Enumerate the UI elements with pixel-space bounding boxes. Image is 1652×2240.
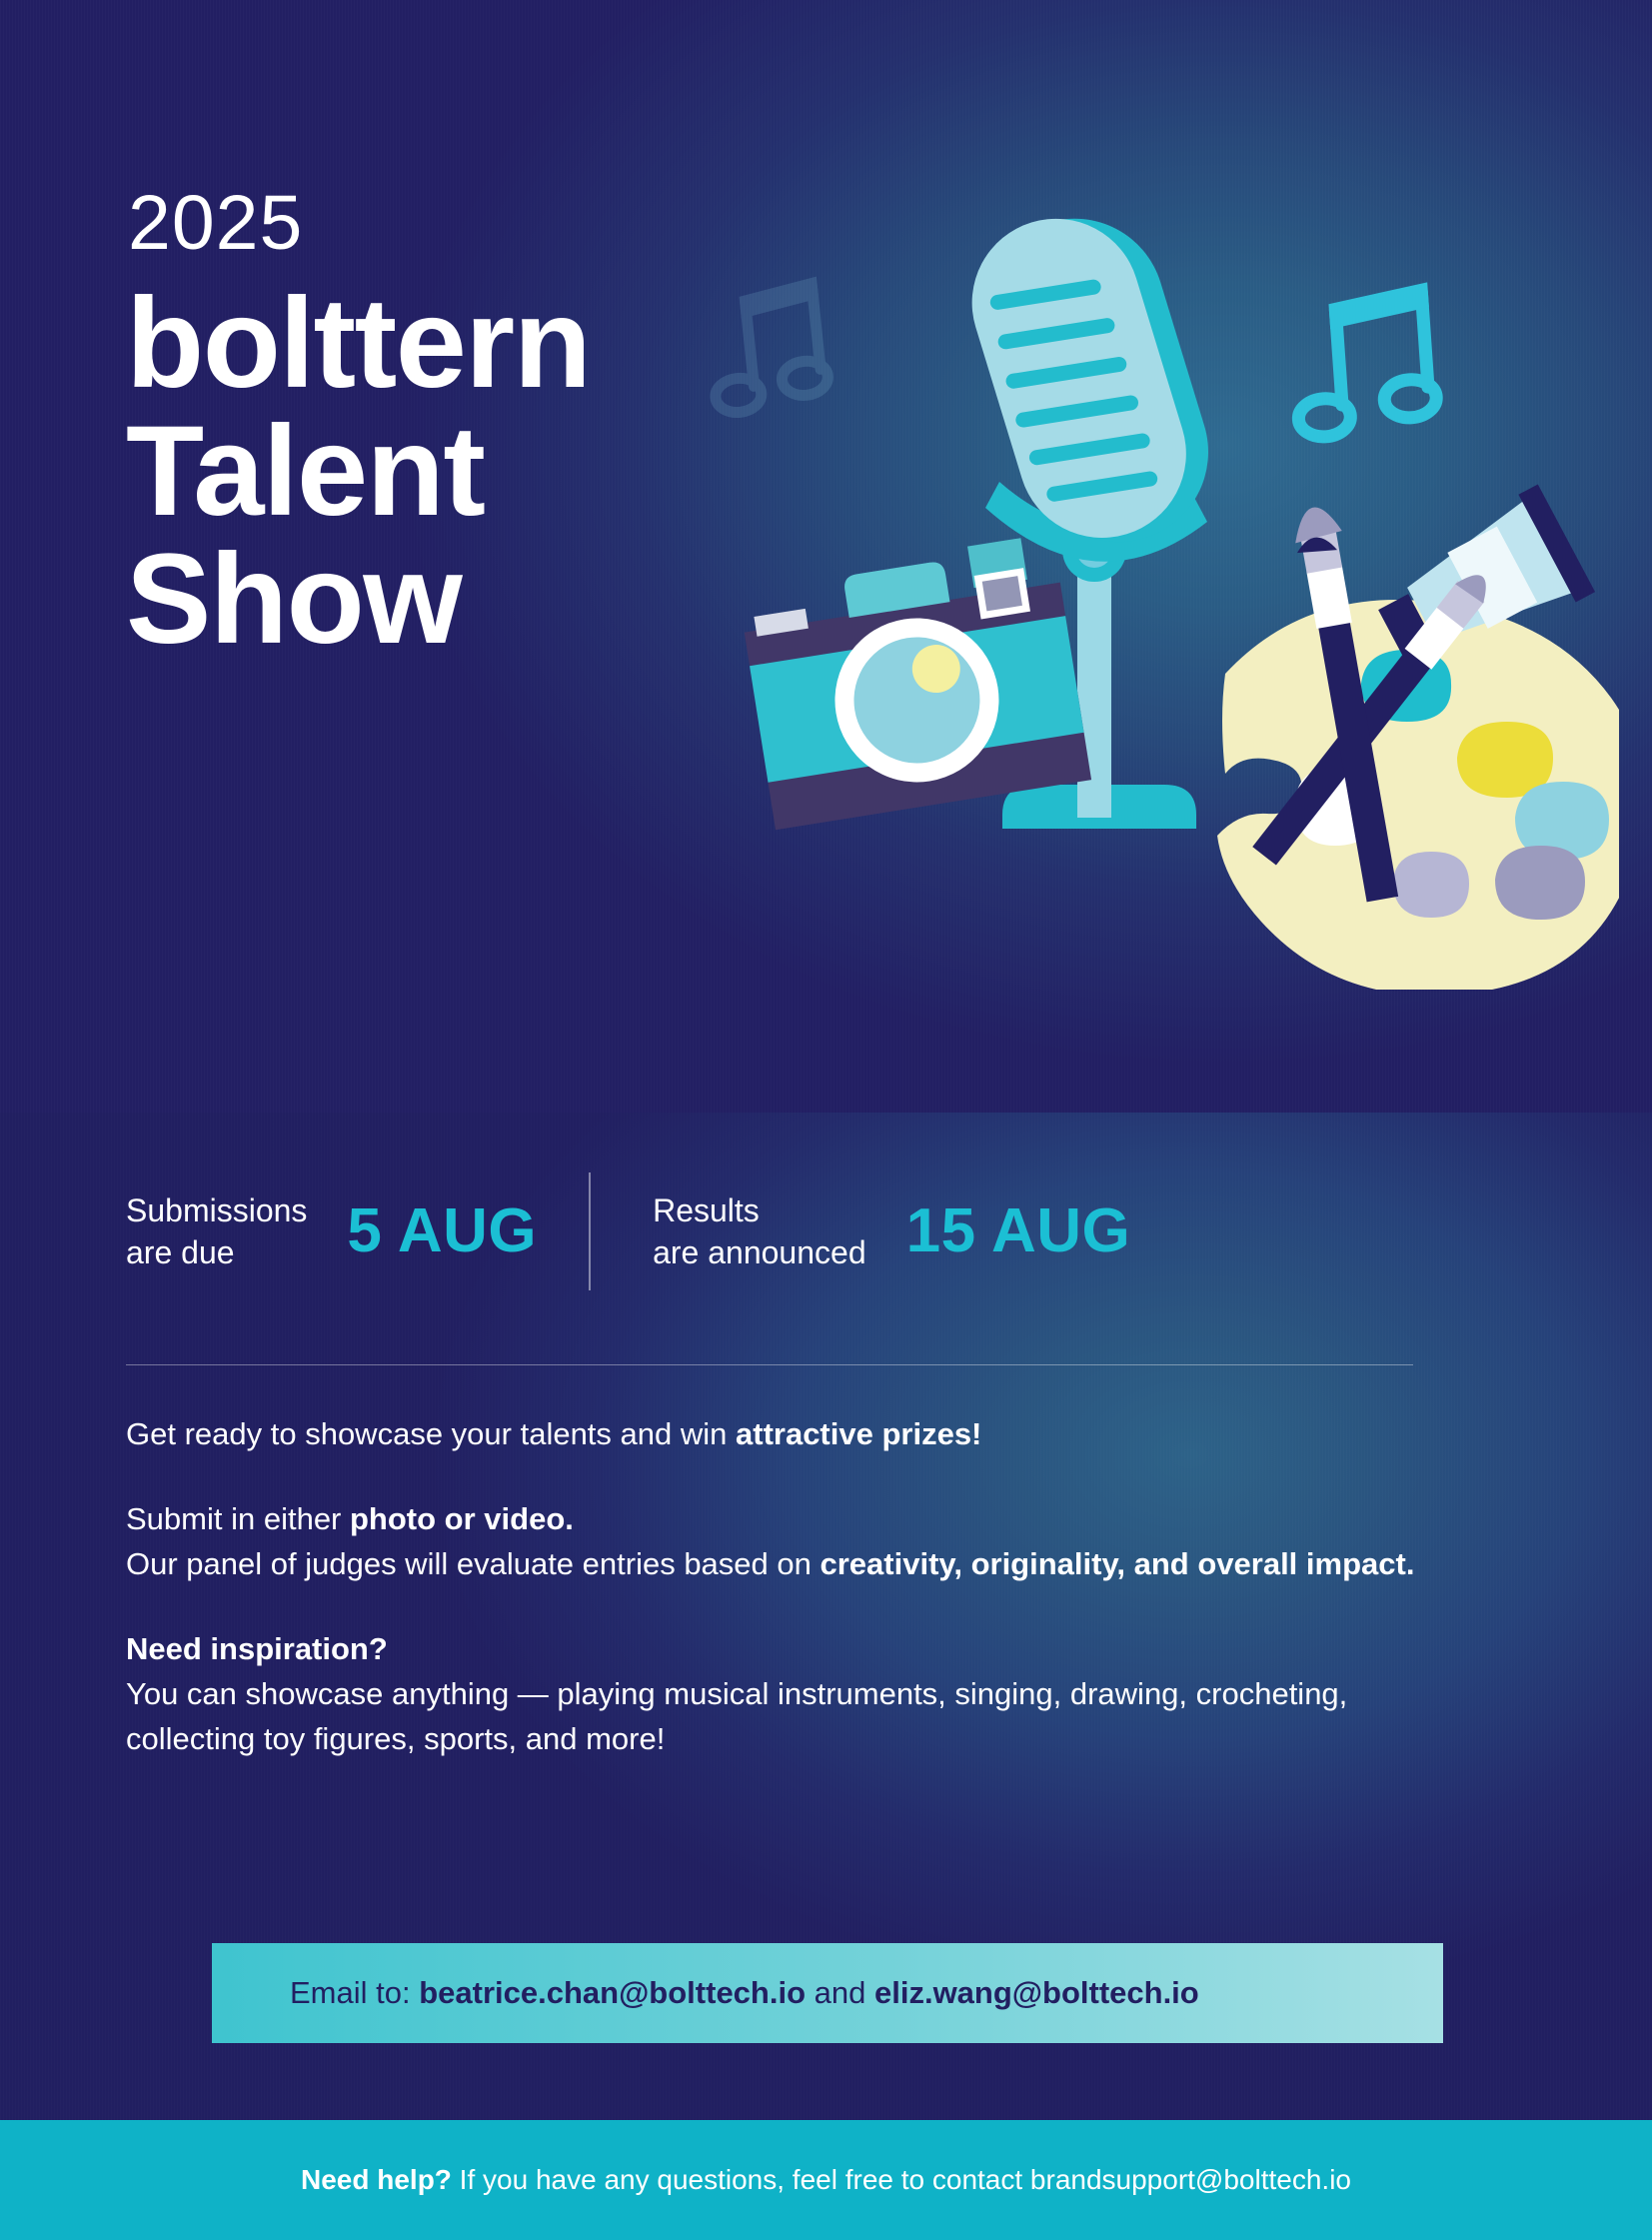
horizontal-divider xyxy=(126,1364,1413,1365)
copy-spacer-1 xyxy=(126,1457,1445,1497)
copy-submit-plain: Submit in either xyxy=(126,1501,350,1536)
email-cta-text: Email to: beatrice.chan@bolttech.io and … xyxy=(290,1975,1199,2011)
email-prefix-label: Email to: xyxy=(290,1975,419,2010)
copy-submit-bold: photo or video. xyxy=(350,1501,574,1536)
date-divider xyxy=(589,1172,591,1290)
camera-icon xyxy=(737,533,1091,830)
email-address-secondary[interactable]: eliz.wang@bolttech.io xyxy=(874,1975,1199,2010)
date-block-submissions: Submissions are due 5 AUG xyxy=(126,1189,537,1273)
hero-text-block: 2025 bolttern Talent Show xyxy=(126,185,590,664)
copy-line-judging: Our panel of judges will evaluate entrie… xyxy=(126,1542,1445,1587)
email-cta-banner[interactable]: Email to: beatrice.chan@bolttech.io and … xyxy=(212,1943,1443,2043)
footer-help-text: Need help? If you have any questions, fe… xyxy=(301,2164,1351,2196)
hero-section: 2025 bolttern Talent Show xyxy=(0,0,1652,1113)
copy-prizes-plain: Get ready to showcase your talents and w… xyxy=(126,1416,736,1451)
footer-help-body: If you have any questions, feel free to … xyxy=(452,2164,1351,2195)
copy-line-prizes: Get ready to showcase your talents and w… xyxy=(126,1412,1445,1457)
page-title: bolttern Talent Show xyxy=(126,280,590,664)
copy-line-inspiration-body: You can showcase anything — playing musi… xyxy=(126,1672,1445,1762)
email-conjunction-label: and xyxy=(806,1975,874,2010)
date-value-results: 15 AUG xyxy=(906,1200,1131,1262)
date-label-submissions: Submissions are due xyxy=(126,1189,307,1273)
key-dates-row: Submissions are due 5 AUG Results are an… xyxy=(126,1172,1525,1290)
footer-bar: Need help? If you have any questions, fe… xyxy=(0,2120,1652,2240)
copy-line-inspiration-heading: Need inspiration? xyxy=(126,1627,1445,1672)
poster-year: 2025 xyxy=(128,185,590,262)
poster-root: 2025 bolttern Talent Show Submissions ar… xyxy=(0,0,1652,2240)
copy-spacer-2 xyxy=(126,1587,1445,1627)
copy-prizes-bold: attractive prizes! xyxy=(736,1416,981,1451)
date-block-results: Results are announced 15 AUG xyxy=(653,1189,1130,1273)
copy-judging-bold: creativity, originality, and overall imp… xyxy=(821,1546,1415,1581)
music-note-icon xyxy=(1289,282,1438,438)
date-label-results: Results are announced xyxy=(653,1189,866,1273)
copy-judging-plain: Our panel of judges will evaluate entrie… xyxy=(126,1546,821,1581)
music-note-faint-icon xyxy=(704,277,830,415)
copy-line-submit: Submit in either photo or video. xyxy=(126,1497,1445,1542)
body-copy-block: Get ready to showcase your talents and w… xyxy=(126,1412,1445,1762)
talent-illustration xyxy=(700,190,1619,990)
email-address-primary[interactable]: beatrice.chan@bolttech.io xyxy=(419,1975,806,2010)
footer-help-lead: Need help? xyxy=(301,2164,452,2195)
copy-inspiration-bold: Need inspiration? xyxy=(126,1631,388,1666)
date-value-submissions: 5 AUG xyxy=(347,1200,537,1262)
